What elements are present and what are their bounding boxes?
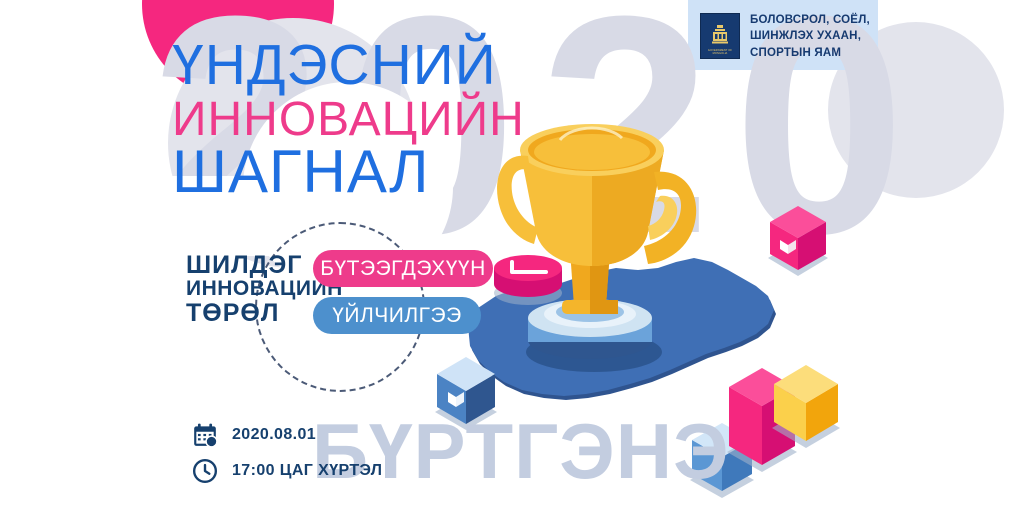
event-date-text: 2020.08.01	[232, 426, 316, 444]
government-emblem-icon: GOVERNMENT OF MONGOLIA	[700, 13, 740, 59]
pill-service: ҮЙЛЧИЛГЭЭ	[313, 297, 481, 334]
calendar-icon	[192, 422, 218, 448]
page-title: ҮНДЭСНИЙ ИННОВАЦИЙН ШАГНАЛ	[172, 38, 525, 202]
event-date-row: 2020.08.01	[192, 422, 316, 448]
ministry-line-3: СПОРТЫН ЯАМ	[750, 47, 841, 59]
clock-icon	[192, 458, 218, 484]
emblem-caption: GOVERNMENT OF MONGOLIA	[701, 49, 739, 55]
ministry-line-2: ШИНЖЛЭХ УХААН,	[750, 30, 861, 42]
trophy-shadow	[526, 332, 662, 372]
title-line-3: ШАГНАЛ	[172, 143, 525, 202]
poster-canvas: 2020	[0, 0, 1024, 512]
ministry-line-1: БОЛОВСРОЛ, СОЁЛ,	[750, 14, 870, 26]
pill-product: БҮТЭЭГДЭХҮҮН	[313, 250, 493, 287]
title-line-1: ҮНДЭСНИЙ	[172, 38, 525, 94]
ministry-logo: GOVERNMENT OF MONGOLIA БОЛОВСРОЛ, СОЁЛ, …	[700, 12, 870, 61]
soyombo-emblem-glyph	[709, 24, 731, 48]
ministry-name: БОЛОВСРОЛ, СОЁЛ, ШИНЖЛЭХ УХААН, СПОРТЫН …	[750, 12, 870, 61]
trophy-base-icon	[528, 299, 652, 359]
emblem-caption-line-2: MONGOLIA	[713, 52, 728, 55]
title-line-2: ИННОВАЦИЙН	[172, 96, 525, 143]
event-time-text: 17:00 ЦАГ ХҮРТЭЛ	[232, 462, 382, 480]
event-time-row: 17:00 ЦАГ ХҮРТЭЛ	[192, 458, 382, 484]
